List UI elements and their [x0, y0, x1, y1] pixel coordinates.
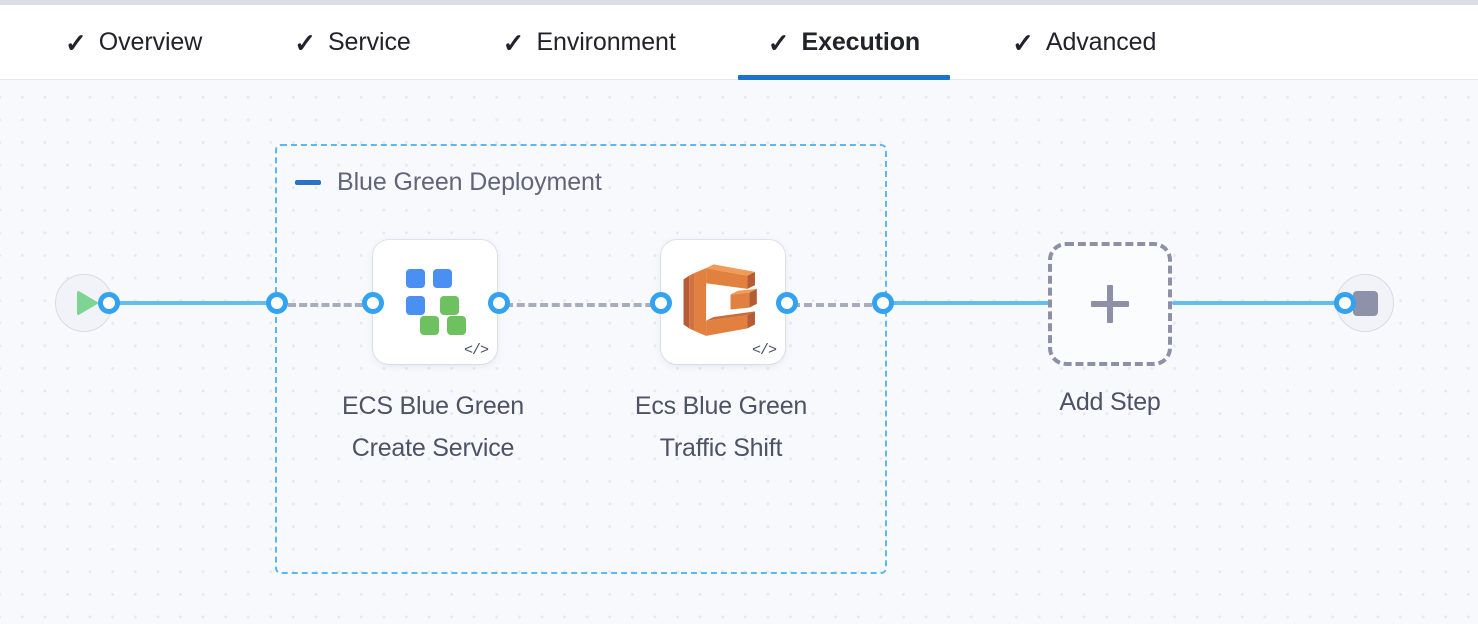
stage-group-title: Blue Green Deployment: [337, 168, 602, 197]
aws-ecs-logo-icon: [676, 255, 770, 349]
edge-add-step-to-end: [1172, 301, 1344, 305]
add-step-label: Add Step: [980, 388, 1240, 417]
port-start-output[interactable]: [98, 292, 120, 314]
stage-group-blue-green-deployment[interactable]: [275, 144, 887, 574]
port-end-input-overlay[interactable]: [1334, 292, 1356, 314]
plus-icon: [1091, 285, 1129, 323]
tab-environment[interactable]: ✓ Environment: [473, 5, 706, 80]
pipeline-canvas[interactable]: Blue Green Deployment: [0, 80, 1478, 624]
tab-list: ✓ Overview ✓ Service ✓ Environment ✓ Exe…: [35, 5, 1186, 80]
port-step1-output[interactable]: [488, 292, 510, 314]
tab-advanced[interactable]: ✓ Advanced: [982, 5, 1186, 80]
edge-start-to-step1: [108, 301, 284, 305]
tab-service-label: Service: [328, 28, 411, 57]
play-icon: [77, 290, 99, 316]
check-icon: ✓: [768, 30, 790, 56]
stage-group-header: Blue Green Deployment: [295, 168, 602, 197]
stop-icon: [1353, 291, 1378, 316]
tab-execution[interactable]: ✓ Execution: [738, 5, 950, 80]
edge-group-to-add-step: [884, 301, 1054, 305]
tab-environment-label: Environment: [536, 28, 675, 57]
pipeline-studio-screen: ✓ Overview ✓ Service ✓ Environment ✓ Exe…: [0, 0, 1478, 624]
tab-advanced-label: Advanced: [1046, 28, 1156, 57]
check-icon: ✓: [294, 30, 316, 56]
tab-service[interactable]: ✓ Service: [264, 5, 440, 80]
port-step1-input[interactable]: [362, 292, 384, 314]
tab-overview[interactable]: ✓ Overview: [35, 5, 232, 80]
check-icon: ✓: [1012, 30, 1034, 56]
tab-execution-label: Execution: [802, 28, 921, 57]
add-step-button[interactable]: [1048, 242, 1172, 366]
port-group-output[interactable]: [872, 292, 894, 314]
port-step2-output[interactable]: [776, 292, 798, 314]
minus-icon[interactable]: [295, 180, 321, 185]
edge-dashed-step1-to-step2: [505, 303, 665, 307]
check-icon: ✓: [503, 30, 525, 56]
code-icon: </>: [752, 342, 776, 359]
check-icon: ✓: [65, 30, 87, 56]
ecs-blue-green-squares-icon: [402, 269, 468, 335]
port-step2-input[interactable]: [650, 292, 672, 314]
step-node-ecs-blue-green-traffic-shift[interactable]: </>: [661, 240, 785, 364]
tab-overview-label: Overview: [99, 28, 202, 57]
step-node-ecs-blue-green-create-service[interactable]: </>: [373, 240, 497, 364]
code-icon: </>: [464, 342, 488, 359]
edge-dashed-step2-to-group-exit: [792, 303, 884, 307]
pipeline-tab-bar: ✓ Overview ✓ Service ✓ Environment ✓ Exe…: [0, 5, 1478, 80]
port-group-input[interactable]: [266, 292, 288, 314]
